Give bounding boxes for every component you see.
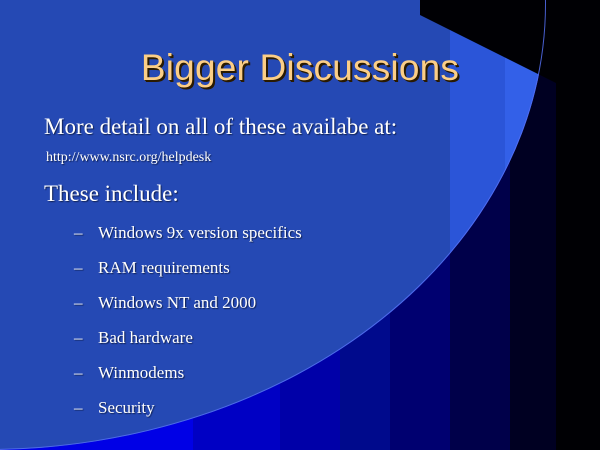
bullet-dash-icon: – <box>74 328 98 348</box>
bullet-dash-icon: – <box>74 363 98 383</box>
bullet-list: –Windows 9x version specifics–RAM requir… <box>74 223 302 433</box>
bullet-label: Security <box>98 398 155 418</box>
list-item: –Winmodems <box>74 363 302 398</box>
slide-canvas: Bigger Discussions More detail on all of… <box>0 0 600 450</box>
page-title: Bigger Discussions <box>0 47 600 89</box>
bullet-label: Windows NT and 2000 <box>98 293 256 313</box>
bullet-label: Bad hardware <box>98 328 193 348</box>
bullet-dash-icon: – <box>74 258 98 278</box>
slide-content: Bigger Discussions More detail on all of… <box>0 0 600 450</box>
list-item: –Security <box>74 398 302 433</box>
bullet-label: Windows 9x version specifics <box>98 223 302 243</box>
bullet-dash-icon: – <box>74 398 98 418</box>
list-item: –Windows NT and 2000 <box>74 293 302 328</box>
section-heading: These include: <box>44 180 179 208</box>
list-item: –Windows 9x version specifics <box>74 223 302 258</box>
bullet-label: RAM requirements <box>98 258 230 278</box>
reference-url[interactable]: http://www.nsrc.org/helpdesk <box>46 149 211 167</box>
list-item: –Bad hardware <box>74 328 302 363</box>
list-item: –RAM requirements <box>74 258 302 293</box>
bullet-label: Winmodems <box>98 363 184 383</box>
lead-text: More detail on all of these availabe at: <box>44 113 397 141</box>
bullet-dash-icon: – <box>74 223 98 243</box>
bullet-dash-icon: – <box>74 293 98 313</box>
